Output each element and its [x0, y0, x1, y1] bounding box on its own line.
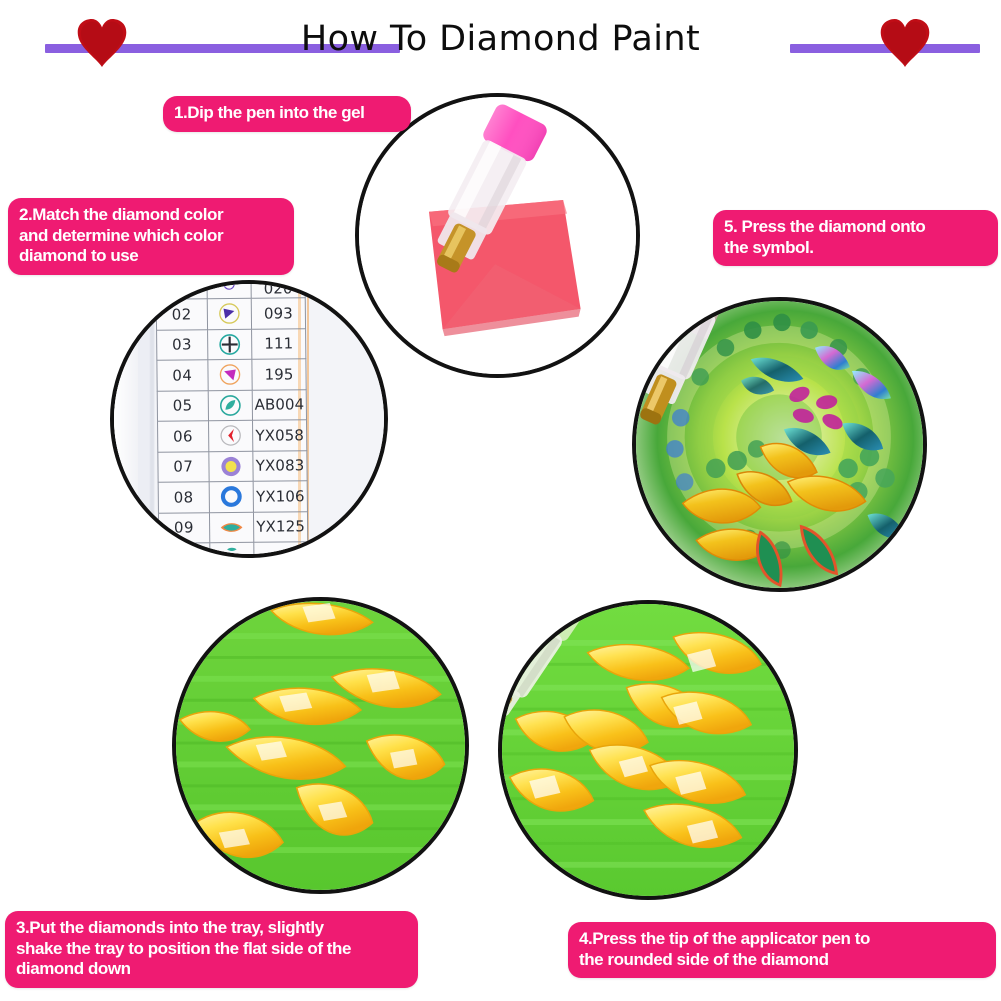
table-row: 07 YX083 [158, 450, 307, 482]
step-4-label: 4.Press the tip of the applicator pen to… [568, 922, 996, 978]
cell-symbol [207, 298, 252, 329]
color-chart-table: 020 02 093 03 [156, 280, 309, 558]
cell-number: 02 [156, 299, 207, 330]
step-4-photo [498, 600, 798, 900]
cell-symbol [208, 359, 253, 390]
cell-code [254, 542, 308, 558]
cell-code: YX058 [253, 420, 307, 451]
cell-code: 195 [252, 359, 306, 390]
table-row: 020 [156, 280, 305, 299]
table-row: 02 093 [156, 298, 305, 330]
cell-number: 04 [157, 360, 208, 391]
table-row: 09 YX125 [159, 511, 308, 543]
cell-symbol [208, 390, 253, 421]
cell-number: 09 [159, 512, 210, 543]
step-5-label: 5. Press the diamond onto the symbol. [713, 210, 998, 266]
cell-code: YX083 [253, 450, 307, 481]
cell-code: YX125 [254, 511, 308, 542]
cell-code: YX106 [254, 481, 308, 512]
cell-code: 020 [251, 280, 305, 298]
cell-number: 05 [157, 390, 208, 421]
cell-symbol [209, 481, 254, 512]
step-2-photo: 020 02 093 03 [110, 280, 388, 558]
step-2-label: 2.Match the diamond color and determine … [8, 198, 294, 275]
cell-number: 08 [158, 482, 209, 513]
cell-code: 093 [252, 298, 306, 329]
cell-number: 03 [157, 329, 208, 360]
cell-code: 111 [252, 328, 306, 359]
cell-symbol [210, 542, 255, 558]
page-title: How To Diamond Paint [0, 18, 1001, 60]
table-row: 08 YX106 [158, 481, 307, 513]
color-chart-sheet: 020 02 093 03 [114, 284, 384, 554]
cell-number: 07 [158, 451, 209, 482]
page-header: How To Diamond Paint [0, 0, 1001, 92]
step-5-photo [632, 297, 927, 592]
cell-symbol [207, 280, 252, 299]
cell-number [156, 280, 207, 299]
cell-symbol [209, 451, 254, 482]
table-row: 06 YX058 [158, 420, 307, 452]
cell-symbol [208, 420, 253, 451]
cell-code: AB004 [253, 389, 307, 420]
sheet-edge [114, 284, 138, 554]
cell-number [159, 543, 210, 558]
cell-number: 06 [158, 421, 209, 452]
table-row [159, 542, 308, 558]
table-row: 03 111 [157, 328, 306, 360]
cell-symbol [207, 329, 252, 360]
step-1-photo [355, 93, 640, 378]
step-3-photo [172, 597, 469, 894]
step-3-label: 3.Put the diamonds into the tray, slight… [5, 911, 418, 988]
cell-symbol [209, 512, 254, 543]
step-1-label: 1.Dip the pen into the gel [163, 96, 411, 132]
table-row: 04 195 [157, 359, 306, 391]
table-row: 05 AB004 [157, 389, 306, 421]
